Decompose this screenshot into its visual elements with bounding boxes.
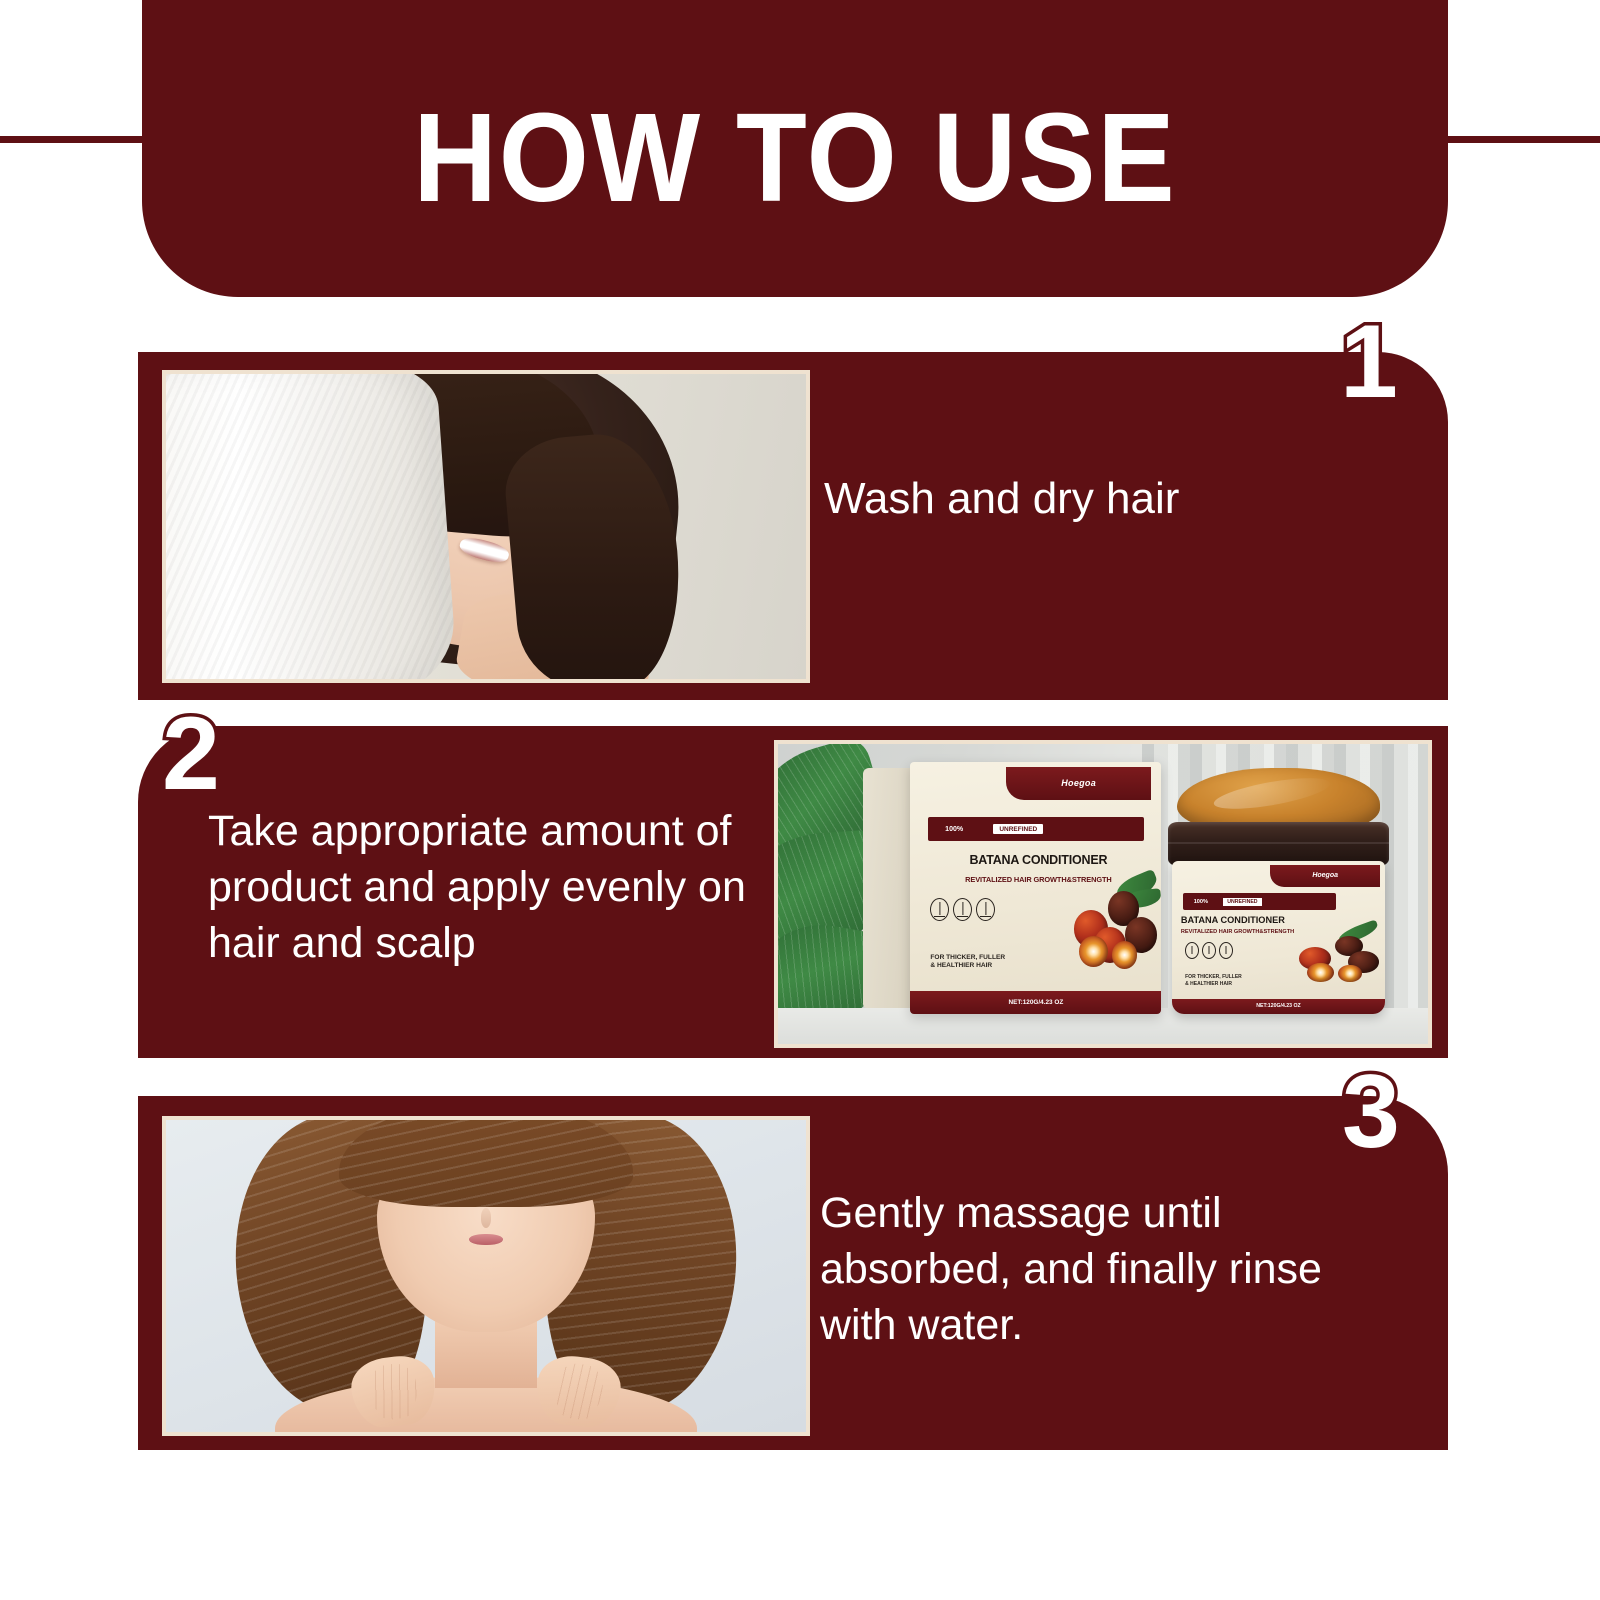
badge-percent: 100%: [1194, 899, 1208, 905]
brand-tab: Hoegoa: [1270, 865, 1380, 888]
product-tagline: REVITALIZED HAIR GROWTH&STRENGTH: [925, 875, 1151, 884]
hair-follicle-icon: [1219, 942, 1233, 959]
net-weight-bar: NET:120G/4.23 OZ: [1172, 999, 1384, 1014]
step-1-image: [162, 370, 810, 683]
jar-lid: [1168, 822, 1389, 866]
header-panel: HOW TO USE: [142, 0, 1448, 297]
brand-name: Hoegoa: [1061, 778, 1096, 788]
badge-unrefined: UNREFINED: [1223, 898, 1261, 906]
smile: [458, 534, 511, 565]
step-3-text: Gently massage until absorbed, and final…: [820, 1186, 1360, 1354]
header-rule-right: [1440, 136, 1600, 143]
product-claim: FOR THICKER, FULLER & HEALTHIER HAIR: [930, 954, 1005, 972]
step-3-image: [162, 1116, 810, 1436]
towel: [162, 370, 459, 683]
benefit-icons: [1185, 942, 1233, 959]
fruit-cross-section: [1307, 963, 1334, 983]
product-name: BATANA CONDITIONER: [925, 853, 1151, 867]
hair-follicle-icon: [976, 898, 995, 921]
product-box: Hoegoa 100% UNREFINED BATANA CONDITIONER…: [863, 762, 1162, 1014]
fruit-cross-section: [1338, 965, 1362, 983]
net-weight: NET:120G/4.23 OZ: [1009, 999, 1064, 1006]
hair-follicle-icon: [953, 898, 972, 921]
hair-follicle-icon: [930, 898, 949, 921]
fruit-cross-section: [1079, 936, 1108, 967]
box-front-panel: Hoegoa 100% UNREFINED BATANA CONDITIONER…: [910, 762, 1161, 1014]
benefit-icons: [930, 898, 995, 921]
step-row-1: Wash and dry hair: [138, 352, 1448, 700]
claim-line-2: & HEALTHIER HAIR: [1185, 981, 1242, 988]
step-2-image: Hoegoa 100% UNREFINED BATANA CONDITIONER…: [774, 740, 1432, 1048]
nose: [481, 1208, 492, 1227]
badge-row: 100% UNREFINED: [1183, 893, 1336, 910]
claim-line-1: FOR THICKER, FULLER: [1185, 974, 1242, 981]
brand-name: Hoegoa: [1312, 872, 1338, 879]
step-1-number: 1: [1340, 310, 1398, 414]
header-rule-left: [0, 136, 150, 143]
jar-label: Hoegoa 100% UNREFINED BATANA CONDITIONER…: [1172, 861, 1384, 1014]
step-2-text: Take appropriate amount of product and a…: [208, 804, 768, 972]
claim-line-2: & HEALTHIER HAIR: [930, 962, 1005, 971]
fruit-cross-section: [1112, 941, 1137, 968]
lips: [469, 1234, 504, 1246]
step-3-number: 3: [1342, 1060, 1400, 1164]
hair-top: [339, 1116, 633, 1207]
infographic-page: HOW TO USE Wash and dry hair 1 Take appr…: [0, 0, 1600, 1600]
page-title: HOW TO USE: [413, 95, 1176, 221]
batana-fruit-illustration: [1069, 888, 1159, 974]
batana-fruit-illustration: [1295, 935, 1380, 987]
step-row-2: Take appropriate amount of product and a…: [138, 726, 1448, 1058]
badge-row: 100% UNREFINED: [928, 817, 1144, 841]
badge-unrefined: UNREFINED: [993, 824, 1043, 834]
box-side-panel: [863, 768, 914, 1007]
step-2-number: 2: [162, 702, 220, 806]
product-tagline: REVITALIZED HAIR GROWTH&STRENGTH: [1181, 929, 1351, 935]
hair-follicle-icon: [1202, 942, 1216, 959]
product-name: BATANA CONDITIONER: [1181, 915, 1351, 925]
product-claim: FOR THICKER, FULLER & HEALTHIER HAIR: [1185, 974, 1242, 988]
product-jar: Hoegoa 100% UNREFINED BATANA CONDITIONER…: [1168, 768, 1389, 1014]
net-weight: NET:120G/4.23 OZ: [1256, 1003, 1300, 1009]
badge-percent: 100%: [945, 826, 963, 833]
net-weight-bar: NET:120G/4.23 OZ: [910, 991, 1161, 1014]
claim-line-1: FOR THICKER, FULLER: [930, 954, 1005, 963]
hair-follicle-icon: [1185, 942, 1199, 959]
brand-tab: Hoegoa: [1006, 767, 1152, 800]
step-1-text: Wash and dry hair: [824, 470, 1384, 528]
step-row-3: Gently massage until absorbed, and final…: [138, 1096, 1448, 1450]
